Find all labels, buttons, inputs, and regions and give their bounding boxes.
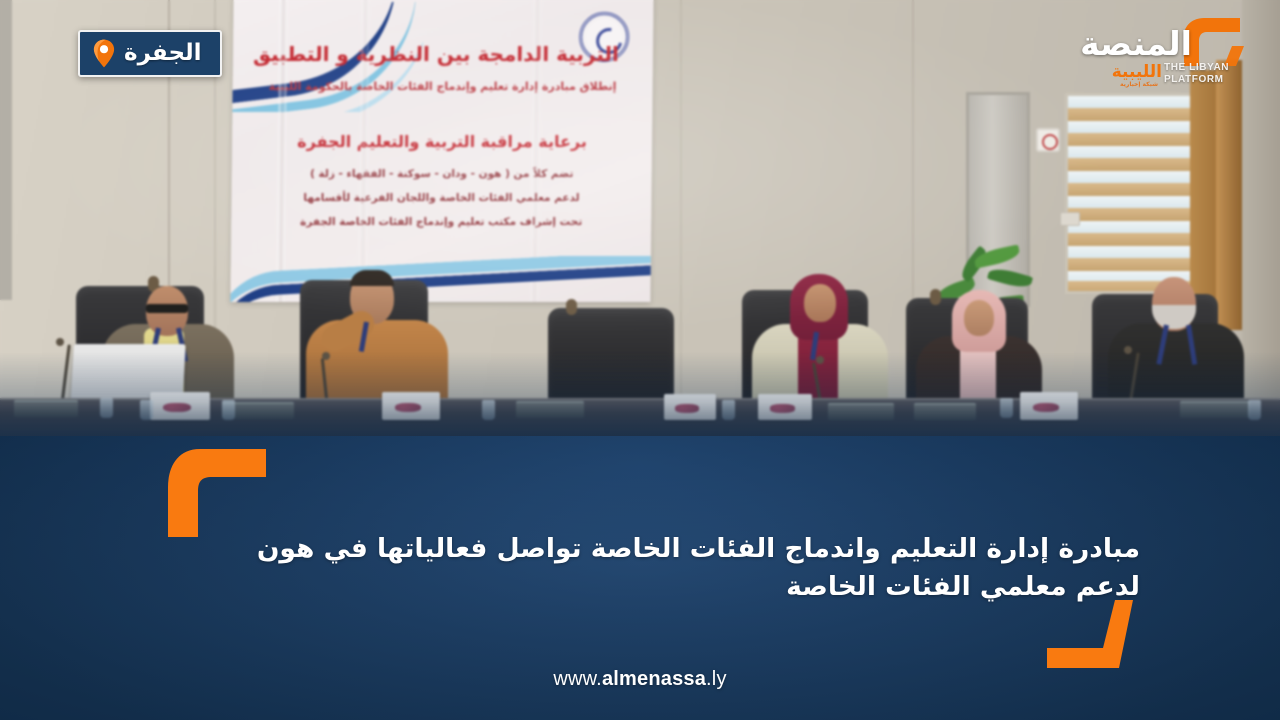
location-badge[interactable]: الجفرة (78, 30, 222, 77)
logo-arabic-main: المنصة (1080, 24, 1192, 63)
url-prefix: www. (553, 668, 602, 690)
logo-arabic-tiny: شبكة إخبارية (1120, 81, 1158, 88)
logo-arabic-sub: الليبية (1112, 62, 1162, 82)
corner-bracket-top-left-icon (158, 447, 268, 539)
caption-line-1: مبادرة إدارة التعليم واندماج الفئات الخا… (160, 530, 1140, 568)
news-card: التربية الدامجة بين النظرية و التطبيق إن… (0, 0, 1280, 720)
caption-line-2: لدعم معلمي الفئات الخاصة (160, 568, 1140, 606)
url-tld: .ly (706, 668, 727, 690)
website-url[interactable]: www.almenassa.ly (0, 668, 1280, 691)
logo-english-line2: PLATFORM (1164, 74, 1224, 85)
logo-english: THE LIBYAN PLATFORM (1164, 62, 1248, 85)
logo-english-line1: THE LIBYAN (1164, 62, 1229, 73)
corner-bracket-bottom-right-icon (1045, 598, 1137, 670)
url-name: almenassa (602, 668, 706, 690)
location-label: الجفرة (124, 42, 202, 65)
news-caption: مبادرة إدارة التعليم واندماج الفئات الخا… (160, 530, 1140, 605)
brand-logo[interactable]: المنصة الليبية شبكة إخبارية THE LIBYAN P… (1068, 18, 1258, 100)
map-pin-icon (93, 39, 115, 68)
